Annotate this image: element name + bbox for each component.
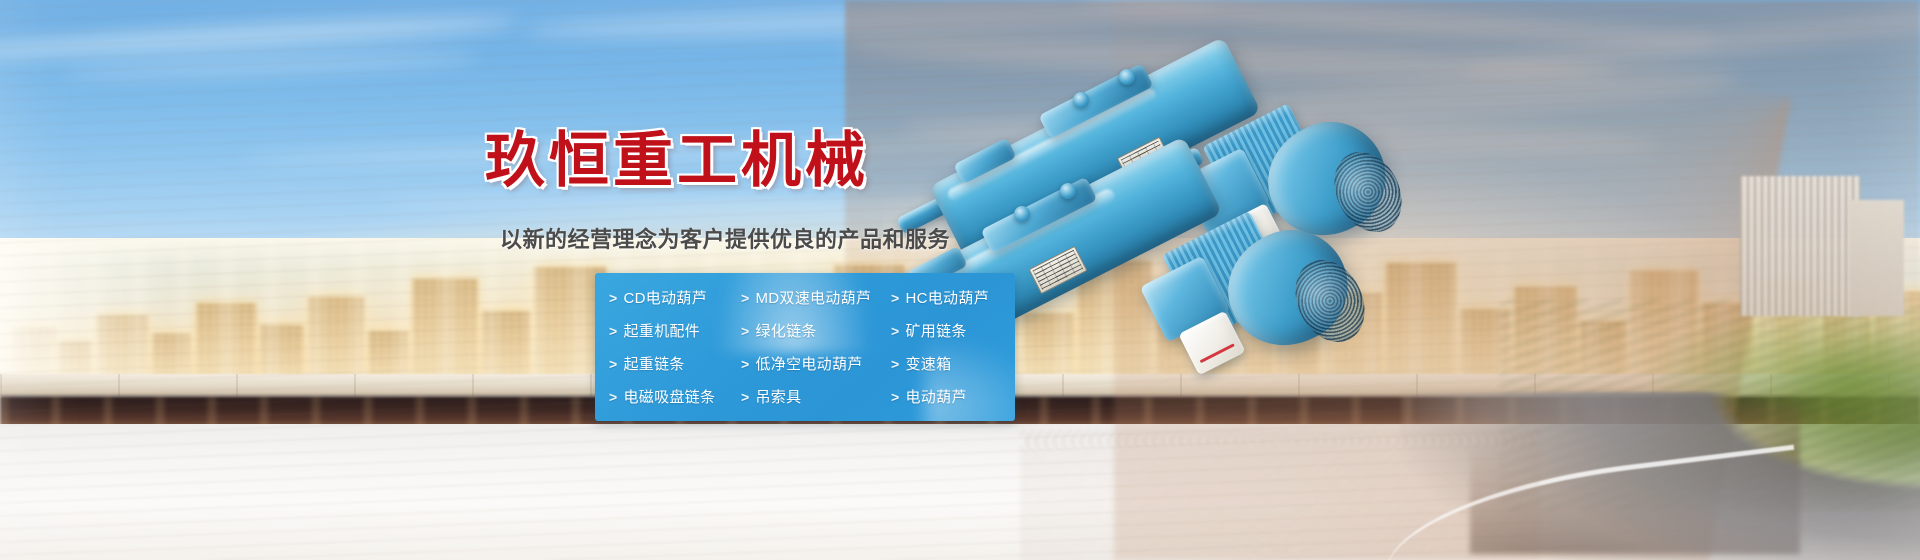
product-link-label: HC电动葫芦 bbox=[905, 287, 988, 308]
product-links-grid: > CD电动葫芦 > MD双速电动葫芦 > HC电动葫芦 > 起重机配件 > 绿… bbox=[595, 273, 1015, 421]
page-title: 玖恒重工机械 bbox=[485, 112, 869, 199]
product-link-label: 起重链条 bbox=[623, 353, 684, 374]
product-link-label: CD电动葫芦 bbox=[623, 287, 706, 308]
product-link-cd-electric-hoist[interactable]: > CD电动葫芦 bbox=[609, 281, 741, 314]
product-link-low-headroom-hoist[interactable]: > 低净空电动葫芦 bbox=[741, 347, 891, 380]
product-link-md-dual-speed-hoist[interactable]: > MD双速电动葫芦 bbox=[741, 281, 891, 314]
background-tower-secondary bbox=[1850, 200, 1904, 316]
hero-banner: 玖恒重工机械 以新的经营理念为客户提供优良的产品和服务 > CD电动葫芦 > M… bbox=[0, 0, 1920, 560]
product-link-hc-electric-hoist[interactable]: > HC电动葫芦 bbox=[891, 281, 1015, 314]
product-link-label: 绿化链条 bbox=[755, 320, 816, 341]
chevron-right-icon: > bbox=[891, 390, 899, 404]
product-link-label: 起重机配件 bbox=[623, 320, 700, 341]
chevron-right-icon: > bbox=[609, 324, 617, 338]
product-link-magnetic-chuck-chain[interactable]: > 电磁吸盘链条 bbox=[609, 380, 741, 413]
product-link-mining-chain[interactable]: > 矿用链条 bbox=[891, 314, 1015, 347]
product-link-electric-hoist[interactable]: > 电动葫芦 bbox=[891, 380, 1015, 413]
product-links-panel: > CD电动葫芦 > MD双速电动葫芦 > HC电动葫芦 > 起重机配件 > 绿… bbox=[595, 273, 1015, 421]
chevron-right-icon: > bbox=[891, 324, 899, 338]
product-link-lifting-chain[interactable]: > 起重链条 bbox=[609, 347, 741, 380]
chevron-right-icon: > bbox=[741, 324, 749, 338]
product-link-label: 低净空电动葫芦 bbox=[755, 353, 862, 374]
product-link-label: 吊索具 bbox=[755, 386, 801, 407]
chevron-right-icon: > bbox=[891, 357, 899, 371]
product-link-label: 电动葫芦 bbox=[905, 386, 966, 407]
product-link-label: 变速箱 bbox=[905, 353, 951, 374]
product-link-crane-parts[interactable]: > 起重机配件 bbox=[609, 314, 741, 347]
product-link-label: 电磁吸盘链条 bbox=[623, 386, 715, 407]
chevron-right-icon: > bbox=[741, 357, 749, 371]
product-link-label: MD双速电动葫芦 bbox=[755, 287, 871, 308]
chevron-right-icon: > bbox=[609, 357, 617, 371]
chevron-right-icon: > bbox=[741, 291, 749, 305]
product-link-slings[interactable]: > 吊索具 bbox=[741, 380, 891, 413]
chevron-right-icon: > bbox=[741, 390, 749, 404]
product-link-label: 矿用链条 bbox=[905, 320, 966, 341]
page-subtitle: 以新的经营理念为客户提供优良的产品和服务 bbox=[500, 222, 950, 254]
product-link-greening-chain[interactable]: > 绿化链条 bbox=[741, 314, 891, 347]
background-tower bbox=[1740, 176, 1860, 316]
product-link-gearbox[interactable]: > 变速箱 bbox=[891, 347, 1015, 380]
chevron-right-icon: > bbox=[609, 390, 617, 404]
chevron-right-icon: > bbox=[609, 291, 617, 305]
chevron-right-icon: > bbox=[891, 291, 899, 305]
